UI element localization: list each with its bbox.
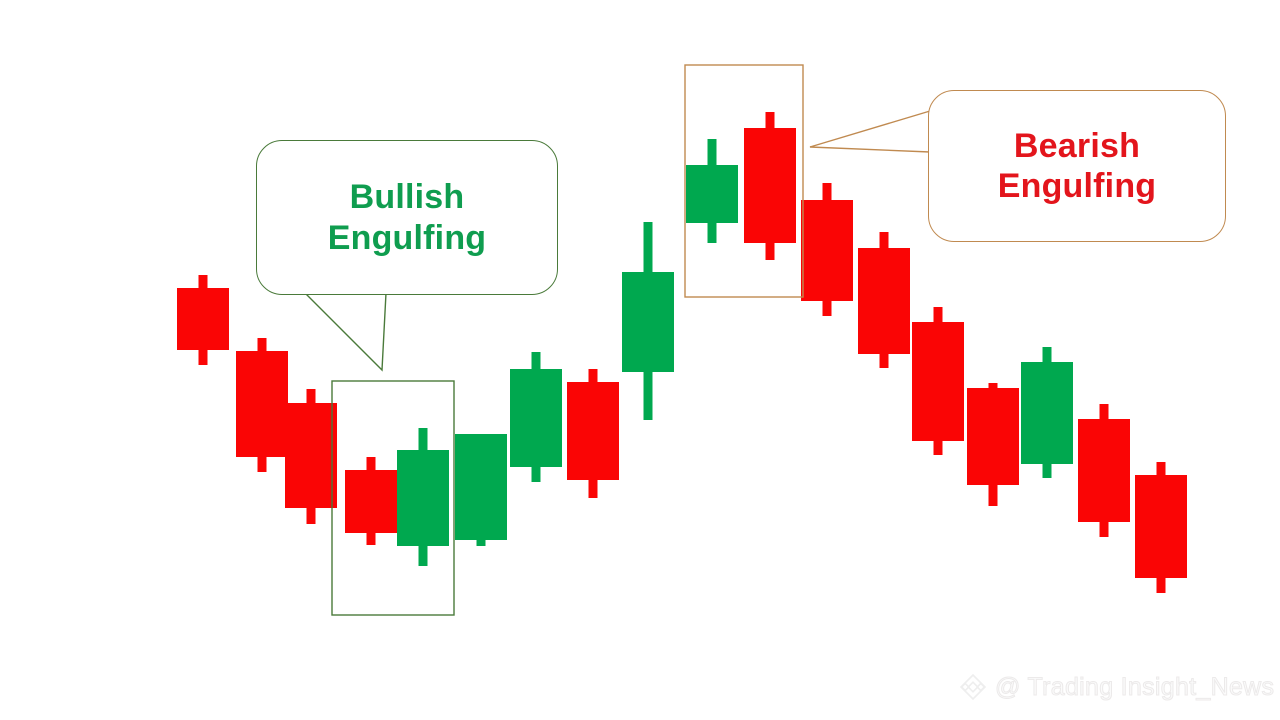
watermark: @ Trading Insight_News — [958, 672, 1274, 702]
candle-body — [801, 200, 853, 301]
candlestick — [622, 222, 674, 420]
candle-body — [1135, 475, 1187, 578]
candlestick — [858, 232, 910, 368]
candle-body — [1021, 362, 1073, 464]
candlestick — [236, 338, 288, 472]
candle-body — [686, 165, 738, 223]
bullish-callout-line-2: Engulfing — [328, 218, 487, 258]
candlestick — [801, 183, 853, 316]
candlestick — [345, 457, 397, 545]
candlestick — [397, 428, 449, 566]
candle-body — [236, 351, 288, 457]
candlestick — [510, 352, 562, 482]
candlestick — [285, 389, 337, 524]
candle-body — [622, 272, 674, 372]
candlestick — [1021, 347, 1073, 478]
candle-body — [397, 450, 449, 546]
candlestick — [177, 275, 229, 365]
bearish-engulfing-callout: Bearish Engulfing — [928, 90, 1226, 242]
candle-body — [1078, 419, 1130, 522]
candle-body — [567, 382, 619, 480]
candlestick — [686, 139, 738, 243]
diamond-logo-icon — [958, 672, 988, 702]
candlestick — [912, 307, 964, 455]
candlestick — [1135, 462, 1187, 593]
bullish-callout-tail — [305, 293, 386, 370]
candle-body — [858, 248, 910, 354]
candle-body — [510, 369, 562, 467]
candle-body — [744, 128, 796, 243]
candlestick-chart-illustration: Bullish Engulfing Bearish Engulfing @ Tr… — [0, 0, 1280, 720]
candle-body — [912, 322, 964, 441]
candlestick — [1078, 404, 1130, 537]
watermark-handle: @ Trading Insight_News — [995, 673, 1274, 702]
candle-body — [285, 403, 337, 508]
candlestick — [967, 383, 1019, 506]
bearish-callout-line-2: Engulfing — [998, 166, 1157, 206]
bullish-engulfing-callout: Bullish Engulfing — [256, 140, 558, 295]
bearish-callout-tail — [810, 111, 930, 152]
candlestick — [455, 434, 507, 546]
candle-body — [345, 470, 397, 533]
candle-body — [455, 434, 507, 540]
candlestick — [567, 369, 619, 498]
bullish-callout-line-1: Bullish — [350, 177, 465, 217]
candle-body — [967, 388, 1019, 485]
bearish-callout-line-1: Bearish — [1014, 126, 1140, 166]
candlestick — [744, 112, 796, 260]
candle-body — [177, 288, 229, 350]
